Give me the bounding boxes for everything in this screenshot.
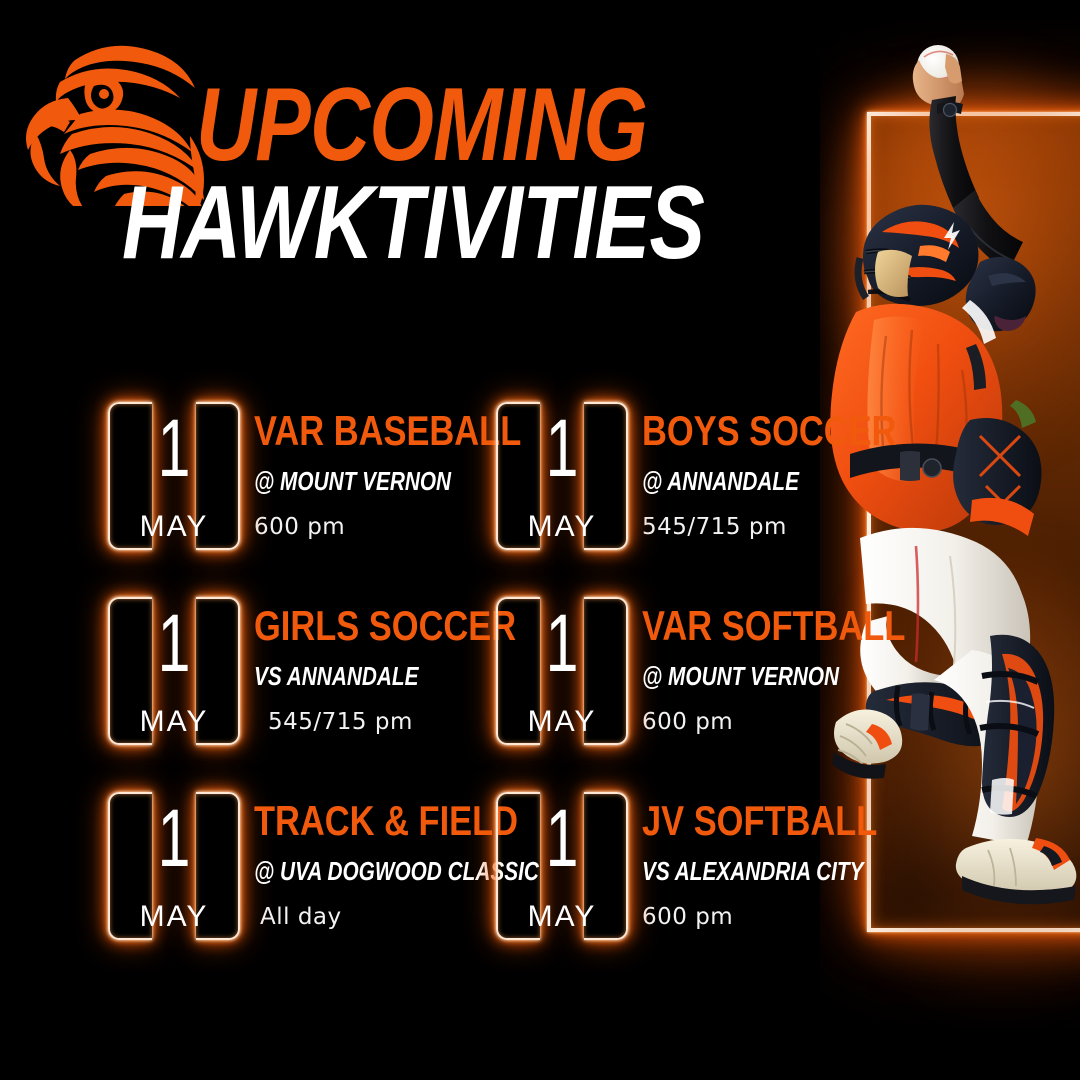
header: UPCOMING HAWKTIVITIES (0, 0, 820, 380)
date-day: 1 (514, 603, 609, 685)
date-badge: 1 MAY (108, 402, 240, 550)
event-time: 545/715 pm (642, 516, 952, 539)
event-card[interactable]: 1 MAY VAR SOFTBALL @ MOUNT VERNON 600 pm (496, 595, 868, 790)
date-badge: 1 MAY (108, 792, 240, 940)
date-badge: 1 MAY (496, 597, 628, 745)
date-day: 1 (514, 798, 609, 880)
event-sport: JV SOFTBALL (642, 800, 877, 842)
event-time: 600 pm (642, 711, 963, 734)
date-month: MAY (108, 707, 240, 737)
date-month: MAY (496, 512, 628, 542)
title-block: UPCOMING HAWKTIVITIES (196, 80, 796, 269)
event-card[interactable]: 1 MAY GIRLS SOCCER VS ANNANDALE 545/715 … (108, 595, 496, 790)
date-day: 1 (126, 603, 221, 685)
event-venue: @ ANNANDALE (642, 468, 890, 494)
date-month: MAY (496, 902, 628, 932)
date-day: 1 (126, 408, 221, 490)
event-time: 600 pm (642, 906, 929, 929)
date-badge: 1 MAY (108, 597, 240, 745)
event-details: JV SOFTBALL VS ALEXANDRIA CITY 600 pm (642, 790, 929, 929)
event-card[interactable]: 1 MAY TRACK & FIELD @ UVA DOGWOOD CLASSI… (108, 790, 496, 985)
page-title-line1: UPCOMING (196, 80, 676, 172)
event-sport: GIRLS SOCCER (254, 605, 516, 647)
page-title-line2: HAWKTIVITIES (122, 178, 661, 270)
event-venue: VS ANNANDALE (254, 663, 510, 689)
event-card[interactable]: 1 MAY BOYS SOCCER @ ANNANDALE 545/715 pm (496, 400, 868, 595)
date-badge: 1 MAY (496, 402, 628, 550)
event-card[interactable]: 1 MAY VAR BASEBALL @ MOUNT VERNON 600 pm (108, 400, 496, 595)
date-day: 1 (126, 798, 221, 880)
date-badge: 1 MAY (496, 792, 628, 940)
event-venue: @ MOUNT VERNON (254, 468, 515, 494)
date-month: MAY (108, 512, 240, 542)
event-sport: VAR BASEBALL (254, 410, 521, 452)
event-details: VAR SOFTBALL @ MOUNT VERNON 600 pm (642, 595, 963, 734)
date-month: MAY (108, 902, 240, 932)
event-grid: 1 MAY VAR BASEBALL @ MOUNT VERNON 600 pm… (108, 400, 868, 985)
date-day: 1 (514, 408, 609, 490)
event-sport: VAR SOFTBALL (642, 605, 905, 647)
event-details: BOYS SOCCER @ ANNANDALE 545/715 pm (642, 400, 952, 539)
event-venue: VS ALEXANDRIA CITY (642, 858, 872, 884)
event-card[interactable]: 1 MAY JV SOFTBALL VS ALEXANDRIA CITY 600… (496, 790, 868, 985)
date-month: MAY (496, 707, 628, 737)
event-venue: @ MOUNT VERNON (642, 663, 899, 689)
event-sport: BOYS SOCCER (642, 410, 897, 452)
